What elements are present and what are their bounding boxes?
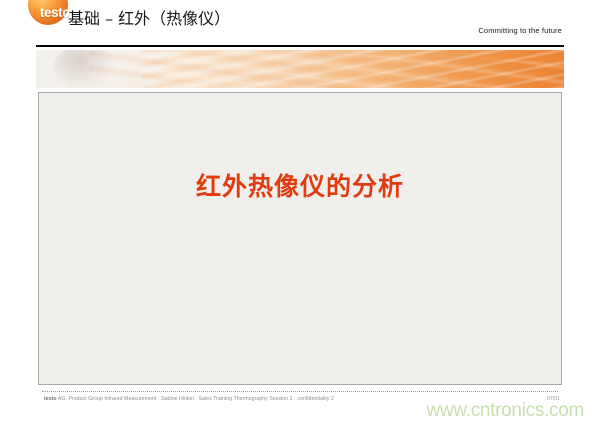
- footer-text: testo AG, Product Group Infrared Measure…: [44, 396, 334, 402]
- slide-content-area: 红外热像仪的分析: [38, 92, 562, 385]
- slide-title: 基础 – 红外（热像仪）: [68, 0, 230, 38]
- site-watermark: www.cntronics.com: [427, 400, 585, 422]
- brand-tagline: Committing to the future: [478, 26, 562, 35]
- footer-divider: [42, 391, 558, 392]
- footer-details: AG, Product Group Infrared Measurement ·…: [57, 396, 334, 402]
- logo-shadow: [54, 50, 116, 88]
- presentation-slide: Committing to the future testo 基础 – 红外（热…: [0, 0, 600, 424]
- header-rule: [36, 45, 564, 47]
- footer-company: testo: [44, 396, 57, 402]
- title-band: [36, 50, 564, 88]
- content-headline: 红外热像仪的分析: [39, 167, 561, 203]
